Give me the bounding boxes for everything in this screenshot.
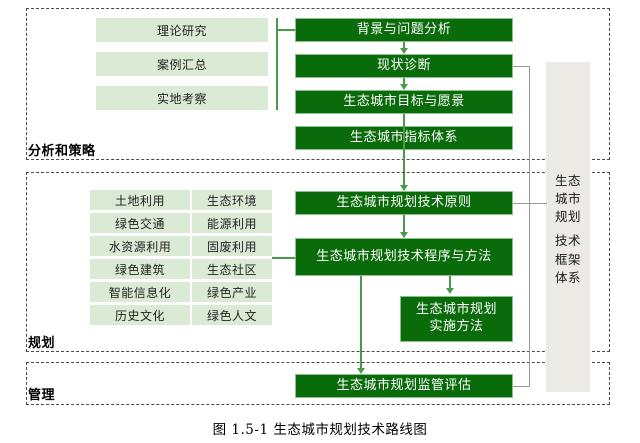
process-implementation-methods-line2: 实施方法 xyxy=(429,319,483,336)
connector-diagnosis-to-spine xyxy=(513,66,530,67)
topic-box-green-industry[interactable]: 绿色产业 xyxy=(192,282,272,302)
connector-inputs-bracket xyxy=(276,18,278,110)
topic-box-land-use[interactable]: 土地利用 xyxy=(90,190,190,210)
process-goals-vision[interactable]: 生态城市目标与愿景 xyxy=(295,90,513,114)
topic-box-smart-informatization[interactable]: 智能信息化 xyxy=(90,282,190,302)
framework-line-1: 生态 xyxy=(546,172,590,190)
topic-box-eco-environment[interactable]: 生态环境 xyxy=(192,190,272,210)
connector-principles-to-spine xyxy=(513,203,530,204)
topic-box-energy-use[interactable]: 能源利用 xyxy=(192,213,272,233)
input-box-fieldwork[interactable]: 实地考察 xyxy=(96,86,268,110)
connector-spine-to-supervision xyxy=(513,386,530,387)
topic-box-solid-waste[interactable]: 固废利用 xyxy=(192,236,272,256)
lane-management-label: 管理 xyxy=(28,384,55,403)
process-supervision-evaluation[interactable]: 生态城市规划监管评估 xyxy=(295,374,513,398)
process-implementation-methods[interactable]: 生态城市规划 实施方法 xyxy=(400,296,513,342)
process-planning-principles[interactable]: 生态城市规划技术原则 xyxy=(295,191,513,215)
topic-box-green-transport[interactable]: 绿色交通 xyxy=(90,213,190,233)
process-implementation-methods-line1: 生态城市规划 xyxy=(416,302,497,319)
connector-framework-spine xyxy=(529,66,530,386)
arrowhead-bg-to-diagnosis xyxy=(400,48,408,54)
arrowhead-procedures-to-implementation xyxy=(446,288,454,294)
process-planning-procedures[interactable]: 生态城市规划技术程序与方法 xyxy=(295,238,513,276)
connector-spine-to-framework xyxy=(529,203,547,204)
topic-box-green-humanity[interactable]: 绿色人文 xyxy=(192,305,272,325)
framework-line-4: 技术 xyxy=(546,232,590,250)
topic-box-green-building[interactable]: 绿色建筑 xyxy=(90,259,190,279)
topic-box-eco-community[interactable]: 生态社区 xyxy=(192,259,272,279)
lane-planning-label: 规划 xyxy=(28,332,55,351)
topic-box-history-culture[interactable]: 历史文化 xyxy=(90,305,190,325)
framework-line-3: 规划 xyxy=(546,208,590,226)
framework-line-2: 城市 xyxy=(546,190,590,208)
lane-analysis-label: 分析和策略 xyxy=(28,140,96,159)
arrowhead-diagnosis-to-goals xyxy=(400,84,408,90)
connector-topics-to-procedures xyxy=(272,257,296,259)
figure-canvas: 分析和策略 理论研究 案例汇总 实地考察 背景与问题分析 现状诊断 生态城市目标… xyxy=(0,0,640,443)
connector-procedures-to-supervision xyxy=(360,276,362,372)
input-box-theory[interactable]: 理论研究 xyxy=(96,18,268,42)
process-status-diagnosis[interactable]: 现状诊断 xyxy=(295,54,513,78)
framework-line-6: 体系 xyxy=(546,269,590,287)
framework-band-label: 生态 城市 规划 技术 框架 体系 xyxy=(546,172,590,287)
connector-inputs-to-background xyxy=(276,29,296,31)
figure-caption: 图 1.5-1 生态城市规划技术路线图 xyxy=(0,418,640,438)
process-background-analysis[interactable]: 背景与问题分析 xyxy=(295,18,513,42)
framework-line-5: 框架 xyxy=(546,251,590,269)
topic-box-water-resources[interactable]: 水资源利用 xyxy=(90,236,190,256)
input-box-cases[interactable]: 案例汇总 xyxy=(96,52,268,76)
